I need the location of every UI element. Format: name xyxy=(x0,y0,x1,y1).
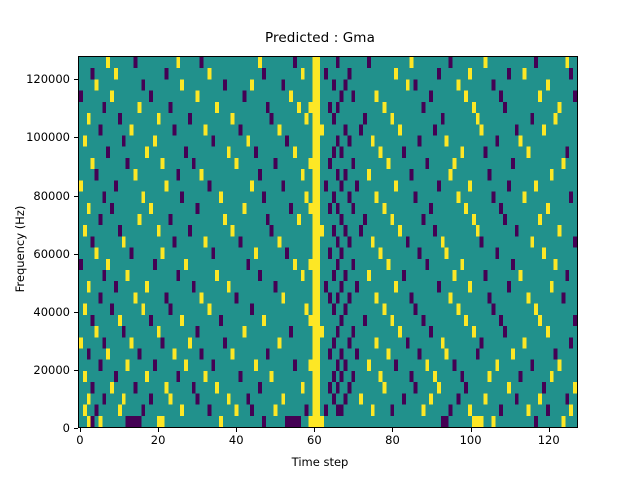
x-tick-label: 20 xyxy=(128,433,188,447)
y-tick-mark xyxy=(74,312,78,313)
x-tick-mark xyxy=(392,428,393,432)
heatmap-canvas xyxy=(79,57,577,427)
x-axis-label: Time step xyxy=(0,455,640,469)
chart-title: Predicted : Gma xyxy=(0,30,640,46)
heatmap-axes xyxy=(78,56,578,428)
y-tick-mark xyxy=(74,254,78,255)
y-tick-mark xyxy=(74,137,78,138)
x-tick-mark xyxy=(158,428,159,432)
matplotlib-figure: Predicted : Gma 020000400006000080000100… xyxy=(0,0,640,480)
heatmap-image xyxy=(79,57,577,427)
y-tick-mark xyxy=(74,428,78,429)
x-tick-mark xyxy=(236,428,237,432)
x-tick-label: 100 xyxy=(441,433,501,447)
y-tick-mark xyxy=(74,79,78,80)
x-tick-mark xyxy=(80,428,81,432)
y-tick-label: 100000 xyxy=(4,130,70,144)
x-tick-label: 0 xyxy=(50,433,110,447)
y-tick-label: 120000 xyxy=(4,72,70,86)
x-tick-label: 60 xyxy=(284,433,344,447)
x-tick-label: 40 xyxy=(206,433,266,447)
y-axis-label: Frequency (Hz) xyxy=(13,169,27,329)
x-tick-label: 80 xyxy=(362,433,422,447)
x-tick-label: 120 xyxy=(519,433,579,447)
x-tick-mark xyxy=(471,428,472,432)
y-tick-mark xyxy=(74,370,78,371)
x-tick-mark xyxy=(549,428,550,432)
x-tick-mark xyxy=(314,428,315,432)
y-tick-mark xyxy=(74,196,78,197)
y-tick-label: 20000 xyxy=(4,363,70,377)
